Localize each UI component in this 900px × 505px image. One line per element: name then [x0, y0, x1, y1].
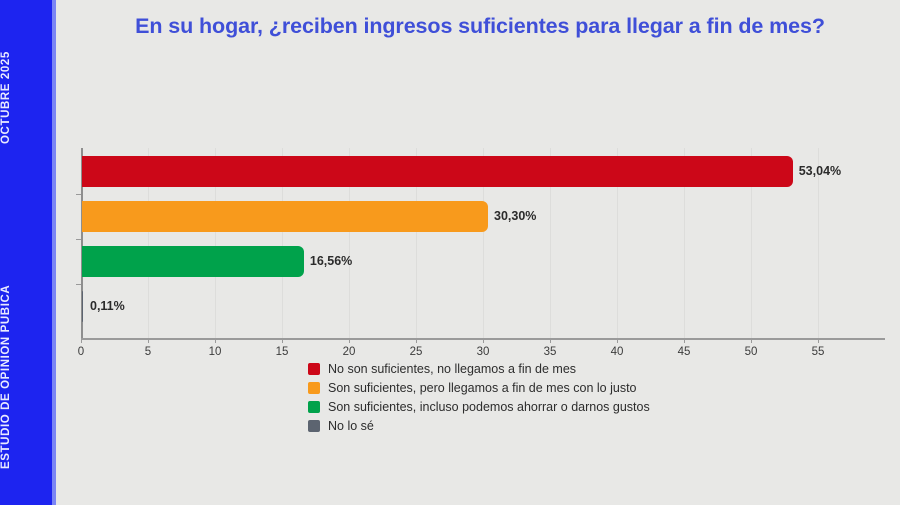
- sidebar: OCTUBRE 2025 ESTUDIO DE OPINIÓN PÚBICA: [0, 0, 56, 505]
- x-axis-tick: [81, 338, 82, 343]
- x-axis-tick: [215, 338, 216, 343]
- bar[interactable]: [82, 156, 793, 187]
- x-axis-tick: [617, 338, 618, 343]
- slide-canvas: OCTUBRE 2025 ESTUDIO DE OPINIÓN PÚBICA E…: [0, 0, 900, 505]
- bar-value-label: 0,11%: [90, 291, 125, 322]
- legend-item[interactable]: No son suficientes, no llegamos a fin de…: [308, 360, 576, 378]
- sidebar-date-label: OCTUBRE 2025: [0, 28, 52, 168]
- legend-item[interactable]: Son suficientes, pero llegamos a fin de …: [308, 379, 637, 397]
- x-axis-tick: [416, 338, 417, 343]
- legend-swatch-icon: [308, 401, 320, 413]
- bar-value-label: 53,04%: [799, 156, 841, 187]
- x-axis-tick: [148, 338, 149, 343]
- legend-item-label: No son suficientes, no llegamos a fin de…: [328, 362, 576, 376]
- legend-item[interactable]: No lo sé: [308, 417, 374, 435]
- x-axis-tick: [349, 338, 350, 343]
- x-axis-tick: [282, 338, 283, 343]
- x-axis-tick: [684, 338, 685, 343]
- legend-item-label: Son suficientes, incluso podemos ahorrar…: [328, 400, 650, 414]
- sidebar-study-label: ESTUDIO DE OPINIÓN PÚBICA: [0, 267, 52, 487]
- y-axis-tick: [76, 194, 81, 195]
- bar-value-label: 30,30%: [494, 201, 536, 232]
- x-axis-tick-label: 25: [410, 346, 423, 358]
- x-axis-tick-label: 45: [678, 346, 691, 358]
- x-axis-tick-label: 5: [145, 346, 151, 358]
- page-title: En su hogar, ¿reciben ingresos suficient…: [60, 14, 900, 40]
- x-axis-tick-label: 20: [343, 346, 356, 358]
- legend-item[interactable]: Son suficientes, incluso podemos ahorrar…: [308, 398, 650, 416]
- x-axis-tick: [751, 338, 752, 343]
- legend-swatch-icon: [308, 363, 320, 375]
- x-axis-tick-label: 30: [477, 346, 490, 358]
- x-axis-tick-label: 55: [812, 346, 825, 358]
- x-axis-tick-label: 10: [209, 346, 222, 358]
- x-axis-tick-label: 15: [276, 346, 289, 358]
- bar[interactable]: [82, 201, 488, 232]
- x-axis-tick: [818, 338, 819, 343]
- y-axis-tick: [76, 284, 81, 285]
- chart-legend: No son suficientes, no llegamos a fin de…: [60, 360, 900, 436]
- bar[interactable]: [82, 246, 304, 277]
- x-axis-tick-label: 40: [611, 346, 624, 358]
- x-axis-tick: [550, 338, 551, 343]
- y-axis-tick: [76, 239, 81, 240]
- x-axis-tick: [483, 338, 484, 343]
- plot-area: 051015202530354045505553,04%30,30%16,56%…: [81, 148, 885, 338]
- legend-swatch-icon: [308, 420, 320, 432]
- legend-swatch-icon: [308, 382, 320, 394]
- legend-item-label: Son suficientes, pero llegamos a fin de …: [328, 381, 637, 395]
- legend-item-label: No lo sé: [328, 419, 374, 433]
- bar-value-label: 16,56%: [310, 246, 352, 277]
- bar[interactable]: [82, 291, 83, 322]
- x-axis-tick-label: 50: [745, 346, 758, 358]
- x-axis-tick-label: 35: [544, 346, 557, 358]
- chart: 051015202530354045505553,04%30,30%16,56%…: [60, 60, 900, 505]
- x-axis-tick-label: 0: [78, 346, 84, 358]
